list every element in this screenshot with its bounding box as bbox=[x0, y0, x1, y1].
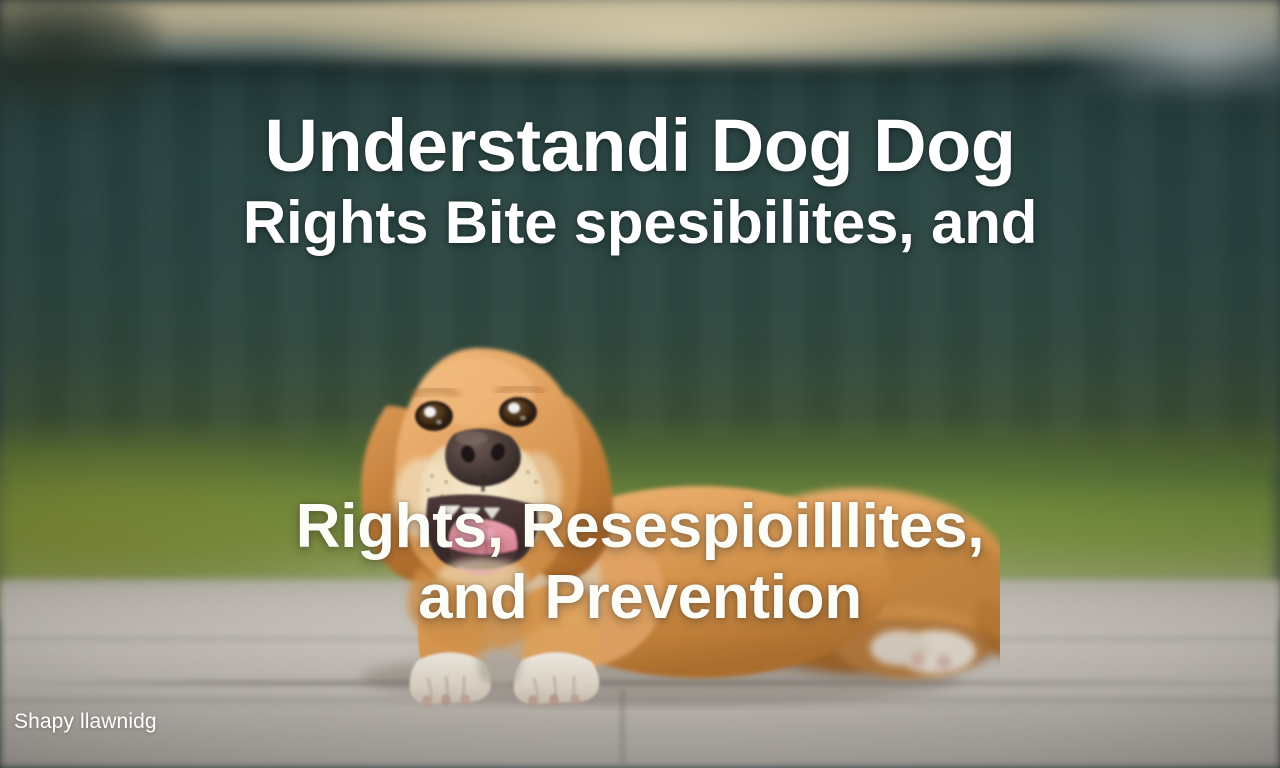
subheadline-text-block: Rights, Resespioilllites, and Prevention bbox=[0, 492, 1280, 633]
background-left-foliage bbox=[0, 0, 160, 110]
subheadline-line-1: Rights, Resespioilllites, bbox=[0, 492, 1280, 563]
subheadline-line-2: and Prevention bbox=[0, 563, 1280, 634]
article-banner-image: Understandi Dog Dog Rights Bite spesibil… bbox=[0, 0, 1280, 768]
background-sky-cool-haze bbox=[1070, 0, 1280, 90]
watermark-label: Shapy llawnidg bbox=[14, 710, 157, 734]
headline-line-2: Rights Bite spesibilites, and bbox=[0, 189, 1280, 256]
headline-text-block: Understandi Dog Dog Rights Bite spesibil… bbox=[0, 108, 1280, 257]
headline-line-1: Understandi Dog Dog bbox=[0, 108, 1280, 183]
background-sky-glow bbox=[300, 0, 1060, 60]
